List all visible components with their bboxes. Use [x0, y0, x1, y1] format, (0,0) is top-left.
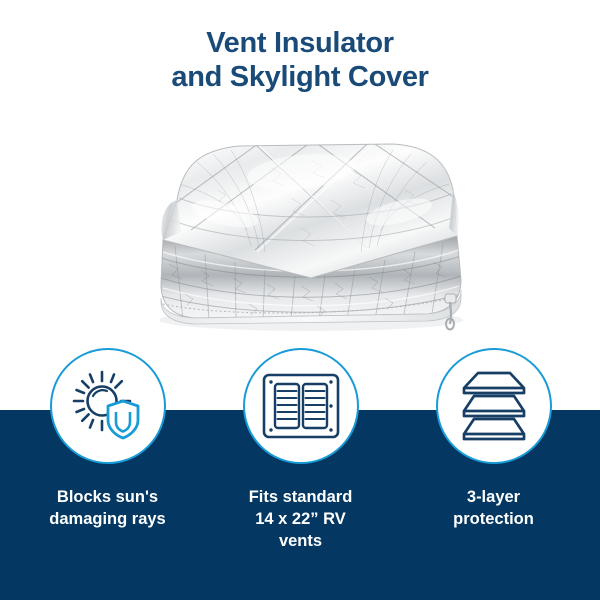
feature-caption: Fits standard 14 x 22” RV vents [204, 487, 397, 552]
feature-caption: 3-layer protection [397, 487, 590, 531]
feature-caption: Blocks sun's damaging rays [11, 487, 204, 531]
product-image [105, 128, 495, 340]
feature-blocks-sun: Blocks sun's damaging rays [11, 348, 204, 531]
product-illustration [105, 128, 495, 340]
feature-icon-circle [50, 348, 166, 464]
product-infographic: Vent Insulator and Skylight Cover [0, 0, 600, 600]
page-title: Vent Insulator and Skylight Cover [0, 26, 600, 94]
title-line-1: Vent Insulator [0, 26, 600, 60]
layer-top [464, 373, 524, 393]
vent-panel-left [275, 384, 299, 428]
feature-row: Blocks sun's damaging rays [0, 348, 600, 578]
feature-icon-circle [243, 348, 359, 464]
sun-inner-arc [93, 390, 107, 396]
title-line-2: and Skylight Cover [0, 60, 600, 94]
feature-three-layer-protection: 3-layer protection [397, 348, 590, 531]
three-layer-stack-icon [456, 369, 532, 443]
feature-fits-standard-vents: Fits standard 14 x 22” RV vents [204, 348, 397, 552]
rv-vent-grille-icon [262, 373, 340, 439]
layer-bottom [464, 419, 524, 439]
feature-icon-circle [436, 348, 552, 464]
sun-shield-icon [68, 366, 148, 446]
layer-middle [464, 396, 524, 416]
vent-panel-right [303, 384, 327, 428]
